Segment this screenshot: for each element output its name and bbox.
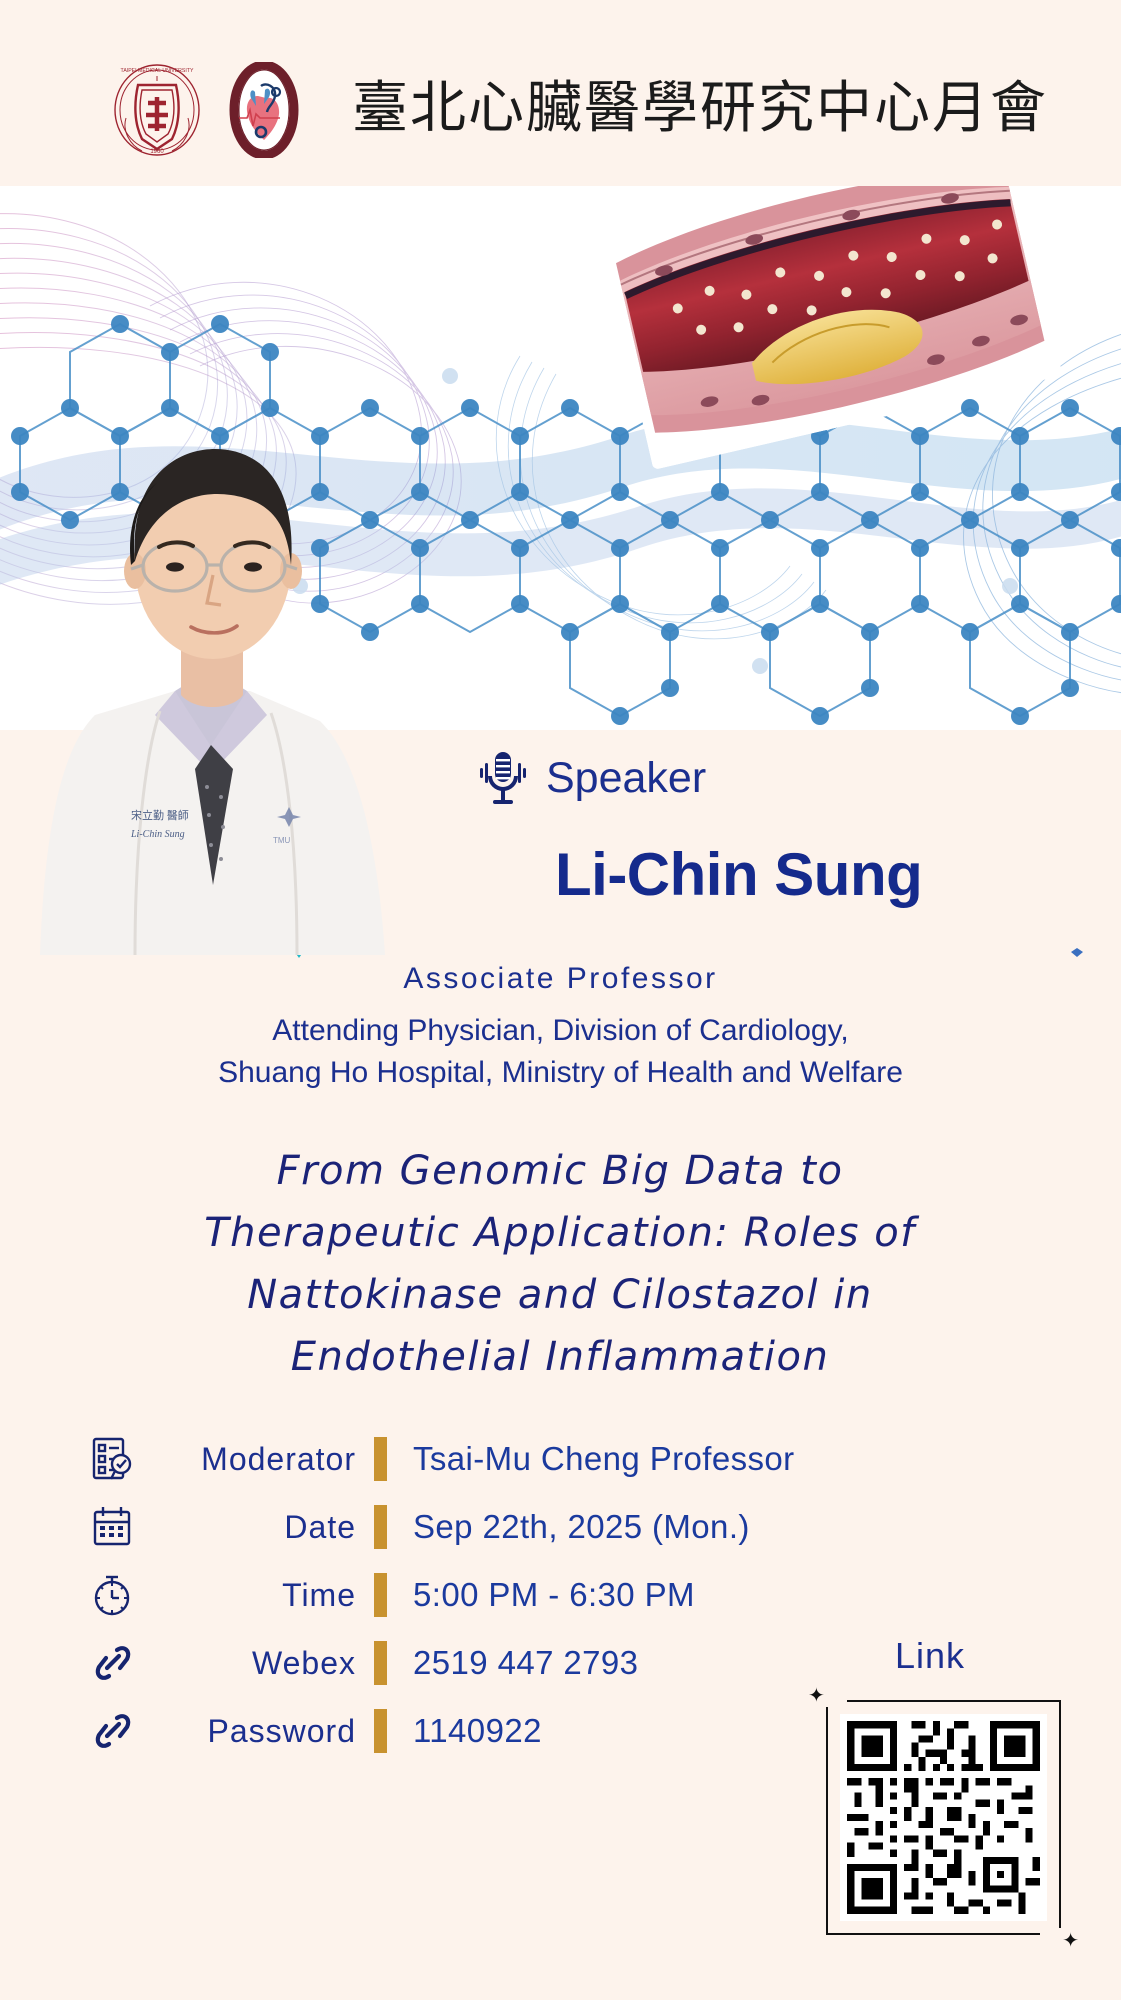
detail-value-password: 1140922 xyxy=(413,1712,542,1750)
link-label: Link xyxy=(895,1635,965,1677)
detail-separator-bar xyxy=(374,1437,387,1481)
detail-label-webex: Webex xyxy=(141,1645,374,1682)
detail-label-time: Time xyxy=(141,1577,374,1614)
speaker-rank: Associate Professor xyxy=(0,962,1121,996)
link-icon xyxy=(85,1635,141,1691)
detail-row-webex: Webex 2519 447 2793 xyxy=(85,1629,795,1697)
microphone-icon xyxy=(480,750,526,806)
affiliation-line-1: Attending Physician, Division of Cardiol… xyxy=(0,1010,1121,1052)
poster-root: TAIPEI MEDICAL UNIVERSITY 1960 xyxy=(0,0,1121,2000)
section-divider xyxy=(290,946,1085,958)
speaker-portrait: 宋立勤 醫師 Li-Chin Sung TMU xyxy=(35,415,395,955)
detail-row-moderator: Moderator Tsai-Mu Cheng Professor xyxy=(85,1425,795,1493)
detail-separator-bar xyxy=(374,1709,387,1753)
lecture-title-line-4: Endothelial Inflammation xyxy=(60,1326,1060,1388)
detail-separator-bar xyxy=(374,1505,387,1549)
detail-value-time: 5:00 PM - 6:30 PM xyxy=(413,1576,695,1614)
svg-text:TAIPEI MEDICAL UNIVERSITY: TAIPEI MEDICAL UNIVERSITY xyxy=(121,68,194,74)
detail-label-moderator: Moderator xyxy=(141,1441,374,1478)
lecture-title-line-1: From Genomic Big Data to xyxy=(60,1140,1060,1202)
stopwatch-icon xyxy=(85,1567,141,1623)
svg-text:Li-Chin Sung: Li-Chin Sung xyxy=(130,829,185,840)
detail-separator-bar xyxy=(374,1641,387,1685)
speaker-heading: Speaker xyxy=(480,750,706,806)
detail-row-password: Password 1140922 xyxy=(85,1697,795,1765)
webex-meeting-qr-code[interactable] xyxy=(840,1714,1047,1921)
detail-value-webex: 2519 447 2793 xyxy=(413,1644,638,1682)
clipboard-check-icon xyxy=(85,1431,141,1487)
detail-label-date: Date xyxy=(141,1509,374,1546)
detail-separator-bar xyxy=(374,1573,387,1617)
sparkle-icon: ✦ xyxy=(808,1686,825,1706)
sparkle-icon: ✦ xyxy=(1062,1931,1079,1951)
logo-group: TAIPEI MEDICAL UNIVERSITY 1960 xyxy=(112,62,310,158)
qr-code-block[interactable]: ✦ ✦ xyxy=(826,1700,1061,1935)
svg-text:TMU: TMU xyxy=(273,836,291,845)
cardiovascular-research-center-logo xyxy=(218,62,310,158)
lecture-title-line-2: Therapeutic Application: Roles of xyxy=(60,1202,1060,1264)
taipei-medical-university-logo: TAIPEI MEDICAL UNIVERSITY 1960 xyxy=(112,63,202,158)
poster-header: TAIPEI MEDICAL UNIVERSITY 1960 xyxy=(0,0,1121,186)
speaker-affiliation: Attending Physician, Division of Cardiol… xyxy=(0,1010,1121,1094)
detail-label-password: Password xyxy=(141,1713,374,1750)
calendar-icon xyxy=(85,1499,141,1555)
svg-text:1960: 1960 xyxy=(150,149,164,155)
link-icon xyxy=(85,1703,141,1759)
speaker-section-label: Speaker xyxy=(546,754,706,803)
detail-value-date: Sep 22th, 2025 (Mon.) xyxy=(413,1508,750,1546)
page-title: 臺北心臟醫學研究中心月會 xyxy=(352,63,1048,144)
detail-value-moderator: Tsai-Mu Cheng Professor xyxy=(413,1440,795,1478)
svg-text:宋立勤 醫師: 宋立勤 醫師 xyxy=(131,808,189,822)
affiliation-line-2: Shuang Ho Hospital, Ministry of Health a… xyxy=(0,1052,1121,1094)
speaker-name: Li-Chin Sung xyxy=(555,840,922,909)
lecture-title: From Genomic Big Data to Therapeutic App… xyxy=(60,1140,1060,1388)
detail-row-time: Time 5:00 PM - 6:30 PM xyxy=(85,1561,795,1629)
lecture-title-line-3: Nattokinase and Cilostazol in xyxy=(60,1264,1060,1326)
event-details: Moderator Tsai-Mu Cheng Professor xyxy=(85,1425,795,1765)
detail-row-date: Date Sep 22th, 2025 (Mon.) xyxy=(85,1493,795,1561)
